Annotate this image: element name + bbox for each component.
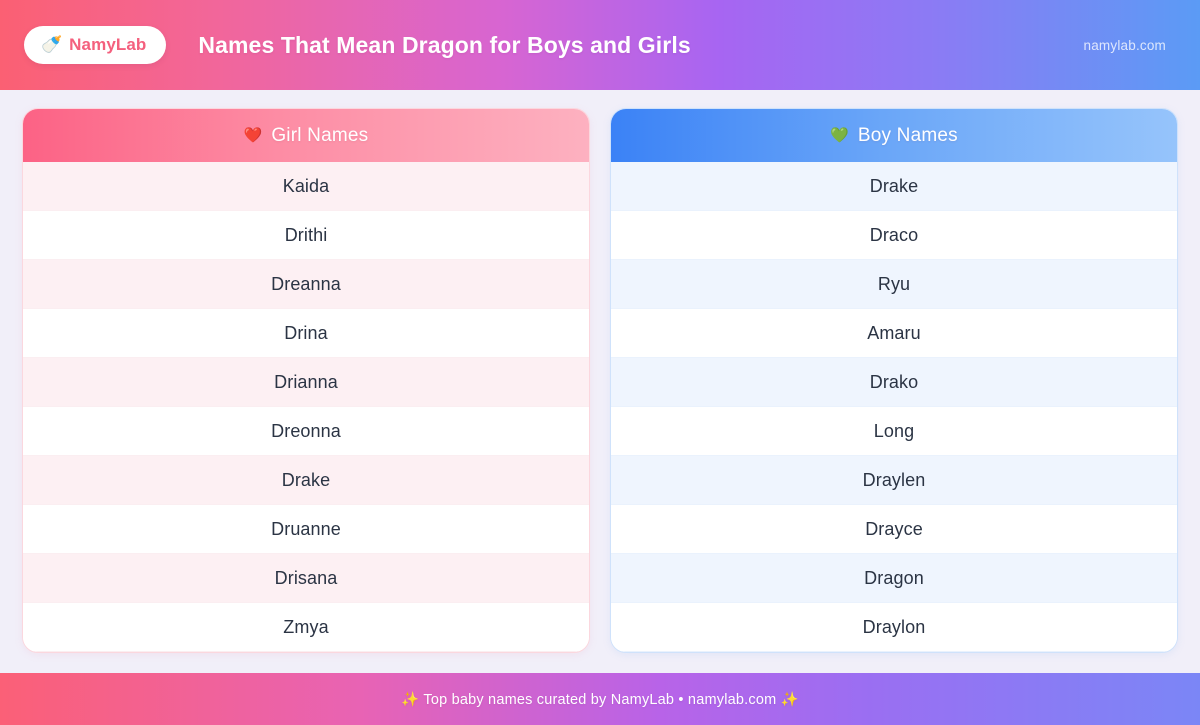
list-item[interactable]: Dreanna	[23, 260, 589, 309]
list-item[interactable]: Drianna	[23, 358, 589, 407]
page-root: 🍼 NamyLab Names That Mean Dragon for Boy…	[0, 0, 1200, 720]
list-item[interactable]: Drithi	[23, 211, 589, 260]
list-item[interactable]: Draylon	[611, 603, 1177, 652]
list-item[interactable]: Draylen	[611, 456, 1177, 505]
red-heart-icon: ❤️	[244, 128, 263, 143]
baby-bottle-icon: 🍼	[41, 36, 62, 53]
girl-names-title: Girl Names	[271, 125, 368, 147]
list-item[interactable]: Drayce	[611, 505, 1177, 554]
list-item[interactable]: Ryu	[611, 260, 1177, 309]
list-item[interactable]: Zmya	[23, 603, 589, 652]
boy-names-header: 💚 Boy Names	[611, 109, 1177, 162]
girl-names-header: ❤️ Girl Names	[23, 109, 589, 162]
page-title: Names That Mean Dragon for Boys and Girl…	[198, 32, 690, 59]
list-item[interactable]: Drina	[23, 309, 589, 358]
list-item[interactable]: Dragon	[611, 554, 1177, 603]
names-columns: ❤️ Girl Names Kaida Drithi Dreanna Drina…	[0, 90, 1200, 673]
boy-names-title: Boy Names	[858, 125, 958, 147]
list-item[interactable]: Drake	[611, 162, 1177, 211]
page-footer: ✨ Top baby names curated by NamyLab • na…	[0, 673, 1200, 725]
list-item[interactable]: Dreonna	[23, 407, 589, 456]
footer-credit: ✨ Top baby names curated by NamyLab • na…	[401, 691, 799, 708]
list-item[interactable]: Kaida	[23, 162, 589, 211]
girl-names-card: ❤️ Girl Names Kaida Drithi Dreanna Drina…	[22, 108, 590, 653]
list-item[interactable]: Druanne	[23, 505, 589, 554]
girl-names-list: Kaida Drithi Dreanna Drina Drianna Dreon…	[23, 162, 589, 652]
green-heart-icon: 💚	[830, 128, 849, 143]
brand-name: NamyLab	[69, 35, 146, 55]
site-url: namylab.com	[1084, 38, 1176, 53]
boy-names-card: 💚 Boy Names Drake Draco Ryu Amaru Drako …	[610, 108, 1178, 653]
list-item[interactable]: Draco	[611, 211, 1177, 260]
page-header: 🍼 NamyLab Names That Mean Dragon for Boy…	[0, 0, 1200, 90]
brand-badge[interactable]: 🍼 NamyLab	[24, 26, 166, 64]
list-item[interactable]: Amaru	[611, 309, 1177, 358]
list-item[interactable]: Long	[611, 407, 1177, 456]
list-item[interactable]: Drisana	[23, 554, 589, 603]
list-item[interactable]: Drako	[611, 358, 1177, 407]
boy-names-list: Drake Draco Ryu Amaru Drako Long Draylen…	[611, 162, 1177, 652]
list-item[interactable]: Drake	[23, 456, 589, 505]
